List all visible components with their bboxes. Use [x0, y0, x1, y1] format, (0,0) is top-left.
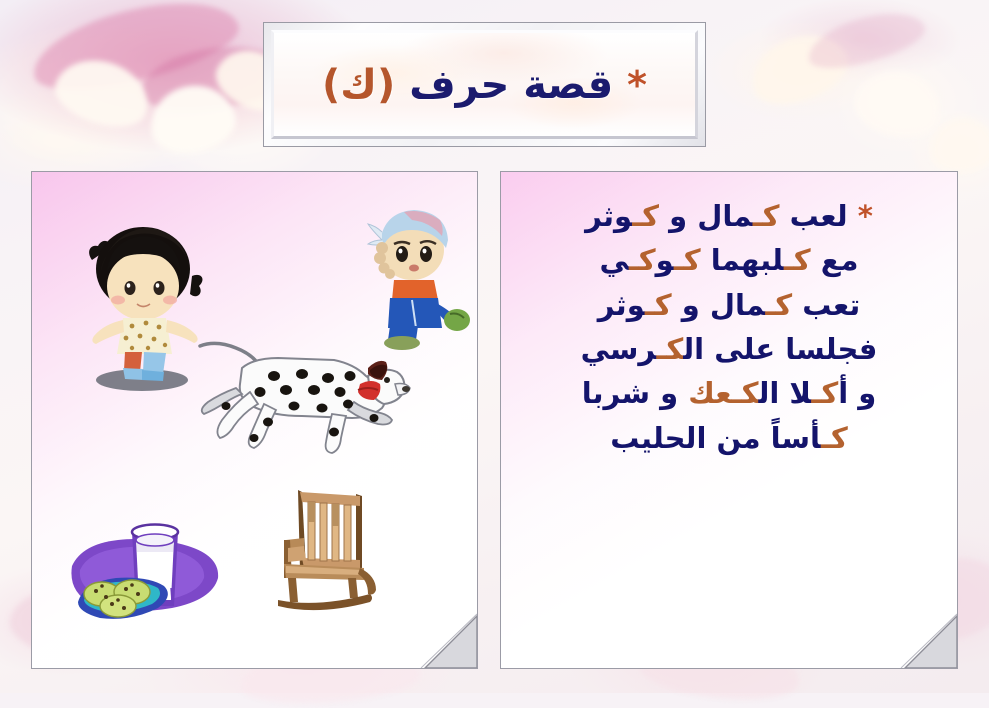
- story-text-segment: مال و: [659, 199, 753, 233]
- highlighted-letter-kaf: كـ: [632, 199, 659, 233]
- title-main-text: قصة حرف: [409, 62, 613, 108]
- story-text: * لعب كـمال و كـوثرمع كـلبهما كـوكـيتعب …: [517, 194, 941, 460]
- page-curl-corner: [415, 610, 477, 668]
- rocking-chair-illustration: [264, 482, 384, 612]
- story-line: * لعب كـمال و كـوثر: [517, 194, 941, 238]
- story-text-panel: * لعب كـمال و كـوثرمع كـلبهما كـوكـيتعب …: [500, 171, 958, 669]
- story-text-segment: لبهما: [701, 243, 784, 277]
- story-line: تعب كـمال و كـوثر: [517, 283, 941, 327]
- story-line: فجلسا على الكـرسي: [517, 327, 941, 371]
- story-text-segment: فجلسا على ال: [683, 332, 877, 366]
- story-text-segment: تعب: [792, 288, 860, 322]
- page-title: * قصة حرف (ك): [322, 62, 647, 108]
- milk-and-cookies-illustration: [60, 494, 235, 629]
- story-text-segment: وثر: [598, 288, 645, 322]
- highlighted-letter-kaf: كـ: [674, 243, 701, 277]
- story-text-segment: لعب: [780, 199, 848, 233]
- story-asterisk: *: [848, 199, 873, 233]
- story-text-segment: أساً من الحليب: [610, 421, 821, 455]
- highlighted-letter-kaf: كـ: [765, 288, 792, 322]
- highlighted-letter-kaf: كـ: [811, 376, 838, 410]
- dog-illustration: [182, 332, 412, 457]
- story-text-segment: مع: [811, 243, 859, 277]
- story-text-segment: مال و: [672, 288, 766, 322]
- title-asterisk: *: [627, 63, 647, 107]
- highlighted-letter-kaf: كـ: [753, 199, 780, 233]
- boy-illustration: [360, 200, 472, 350]
- blossom-shape: [849, 63, 948, 146]
- story-text-segment: و أ: [838, 376, 876, 410]
- title-frame: * قصة حرف (ك): [263, 22, 706, 147]
- story-text-segment: لا ال: [758, 376, 811, 410]
- highlighted-letter-kaf: كـ: [732, 376, 759, 410]
- page-curl-corner: [895, 610, 957, 668]
- story-text-segment: و: [656, 243, 674, 277]
- story-text-segment: و شربا: [582, 376, 689, 410]
- highlighted-letter-kaf: عك: [688, 376, 731, 410]
- story-text-segment: رسي: [581, 332, 657, 366]
- story-line: كـأساً من الحليب: [517, 416, 941, 460]
- story-line: و أكـلا الكـعك و شربا: [517, 371, 941, 415]
- highlighted-letter-kaf: كـ: [784, 243, 811, 277]
- story-line: مع كـلبهما كـوكـي: [517, 238, 941, 282]
- title-bevel-border: * قصة حرف (ك): [271, 30, 698, 139]
- petal-shape: [802, 2, 929, 77]
- illustration-panel: [31, 171, 478, 669]
- title-letter-kaf: (ك): [322, 62, 395, 108]
- story-text-segment: وثر: [585, 199, 632, 233]
- highlighted-letter-kaf: كـ: [645, 288, 672, 322]
- highlighted-letter-kaf: كـ: [821, 421, 848, 455]
- highlighted-letter-kaf: كـ: [656, 332, 683, 366]
- story-text-segment: ي: [600, 243, 629, 277]
- highlighted-letter-kaf: كـ: [629, 243, 656, 277]
